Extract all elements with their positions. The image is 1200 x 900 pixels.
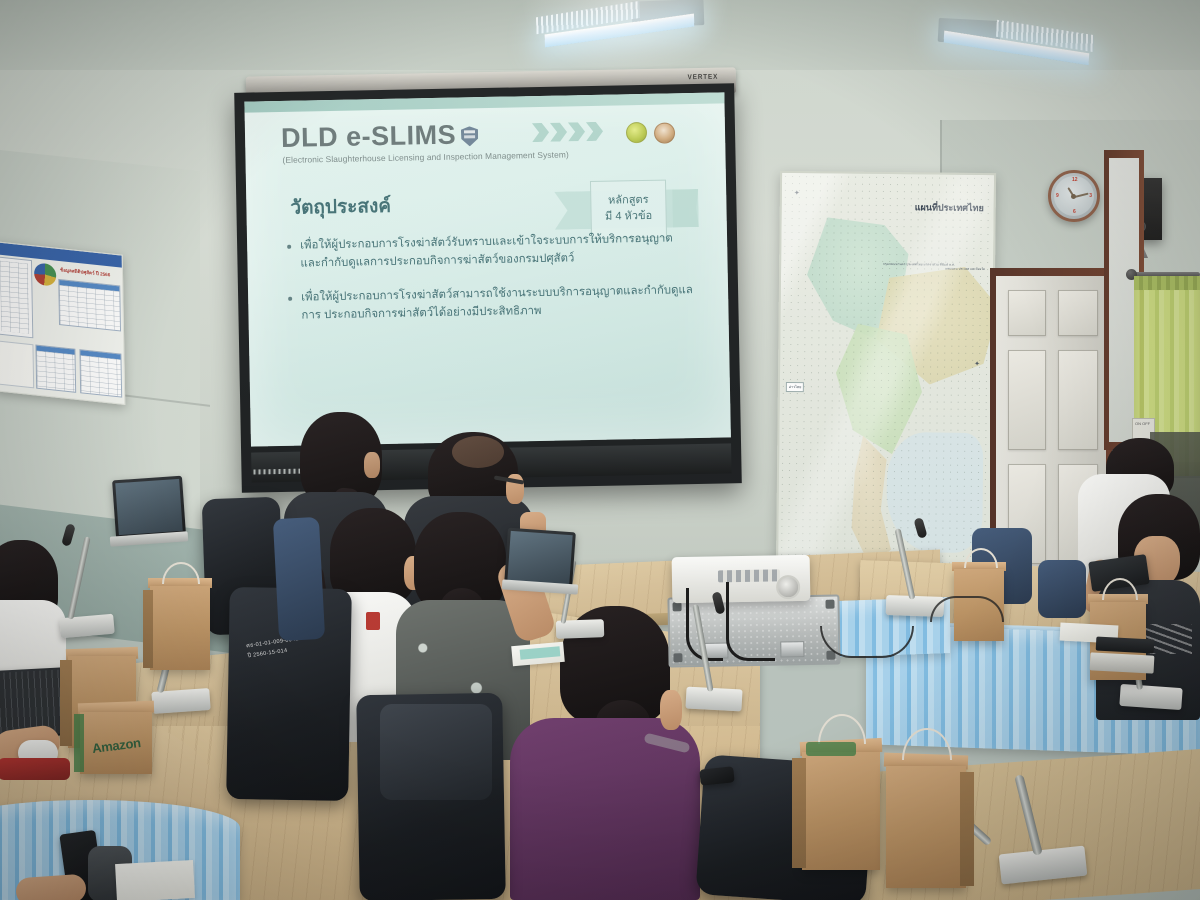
poster-image-row — [0, 341, 34, 389]
flag-badge — [366, 612, 380, 630]
wall-clock: 12 3 6 9 — [1048, 170, 1100, 222]
chevron-decoration-icon — [532, 122, 603, 142]
red-mousepad-case — [0, 758, 70, 780]
government-seal-icon-2 — [654, 122, 675, 143]
poster-data-table — [58, 279, 121, 332]
projector-ports — [718, 569, 780, 582]
slide-section-heading: วัตถุประสงค์ — [290, 191, 391, 223]
government-seal-icon-1 — [626, 122, 647, 143]
ribbon-line-2: มี 4 หัวข้อ — [605, 210, 652, 225]
chair-headrest — [380, 704, 492, 800]
conference-room-photo: VERTEX DLD e-SLIMS (Electronic Slaughter… — [0, 0, 1200, 900]
bag-leaf-icon — [806, 742, 856, 756]
slide-title: DLD e-SLIMS — [281, 119, 479, 154]
bag-green-gusset — [74, 714, 84, 772]
bullet-text: เพื่อให้ผู้ประกอบการโรงฆ่าสัตว์สามารถใช้… — [301, 281, 695, 325]
notebook-foreground[interactable] — [115, 860, 195, 900]
bullet-dot-icon — [288, 297, 292, 301]
curtain-header — [1134, 276, 1200, 290]
presentation-slide: DLD e-SLIMS (Electronic Slaughterhouse L… — [244, 92, 731, 446]
shield-icon — [461, 126, 478, 146]
bag-handle — [818, 714, 866, 744]
poster-pie-chart — [34, 262, 56, 286]
chair-blue-far-right[interactable] — [1038, 560, 1086, 618]
bullet-item: เพื่อให้ผู้ประกอบการโรงฆ่าสัตว์สามารถใช้… — [288, 281, 695, 326]
screen-brand-label: VERTEX — [688, 74, 719, 82]
statistics-poster: ข้อมูลสถิติปศุสัตว์ ปี 2566 — [0, 241, 125, 405]
slide-title-text: DLD e-SLIMS — [281, 120, 457, 153]
ribbon-line-1: หลักสูตร — [608, 194, 649, 209]
poster-side-table — [0, 256, 33, 338]
poster-data-table-2 — [35, 345, 76, 393]
slide-surface: DLD e-SLIMS (Electronic Slaughterhouse L… — [244, 92, 731, 446]
chair-blue-left[interactable] — [273, 517, 325, 641]
device-box-right[interactable] — [1090, 652, 1155, 673]
projector-lens-icon — [776, 575, 800, 599]
projector-cable-2 — [726, 582, 775, 661]
table-cable-2 — [930, 596, 1004, 622]
bullet-text: เพื่อให้ผู้ประกอบการโรงฆ่าสัตว์รับทราบแล… — [300, 229, 694, 273]
slide-bullet-list: เพื่อให้ผู้ประกอบการโรงฆ่าสัตว์รับทราบแล… — [287, 229, 695, 341]
bullet-item: เพื่อให้ผู้ประกอบการโรงฆ่าสัตว์รับทราบแล… — [287, 229, 694, 274]
slide-top-band — [244, 92, 724, 112]
black-device-right[interactable] — [1096, 636, 1155, 653]
poster-data-table-3 — [79, 349, 122, 398]
thailand-map-poster: แผนที่ประเทศไทย กรุงเทพมหานคร ประเทศไทย … — [776, 171, 996, 579]
bullet-dot-icon — [287, 245, 291, 249]
poster-title: ข้อมูลสถิติปศุสัตว์ ปี 2566 — [60, 267, 110, 279]
